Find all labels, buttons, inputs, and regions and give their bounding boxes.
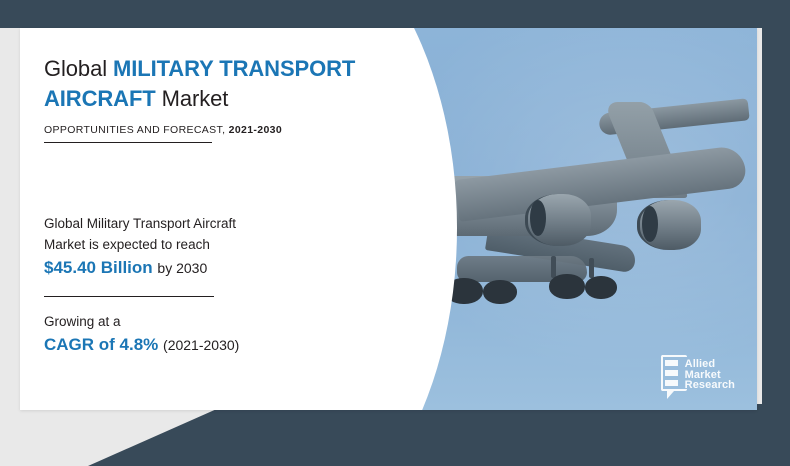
engine-inlet-icon [642,206,658,242]
bubble-bar [665,370,678,376]
title-highlight-2: AIRCRAFT [44,86,156,111]
title-highlight-1: MILITARY TRANSPORT [113,56,355,81]
stats-block: Global Military Transport Aircraft Marke… [44,213,420,358]
market-size-value: $45.40 Billion [44,258,153,277]
engine-inlet-icon [530,200,546,236]
cagr-period: (2021-2030) [163,337,239,353]
bubble-bar [665,380,678,386]
bubble-bar [665,360,678,366]
subtitle-years: 2021-2030 [229,124,282,136]
bubble-tail [667,391,674,399]
cagr-value-row: CAGR of 4.8% (2021-2030) [44,332,420,358]
subtitle-text: OPPORTUNITIES AND FORECAST, [44,124,225,136]
engine-inboard-right [525,194,591,246]
cagr-line-1: Growing at a [44,311,420,332]
logo-line-1: Allied [685,359,735,370]
logo-wordmark: Allied Market Research [685,358,735,391]
allied-market-research-logo: Allied Market Research [665,358,735,392]
market-size-year: by 2030 [157,260,207,276]
title-suffix: Market [162,86,229,111]
stat-line-2: Market is expected to reach [44,234,420,255]
logo-line-3: Research [685,380,735,391]
stat-market-size: Global Military Transport Aircraft Marke… [44,213,420,281]
cagr-value: CAGR of 4.8% [44,335,158,354]
main-landing-gear [549,274,585,299]
gear-strut [589,258,594,278]
title-prefix: Global [44,56,107,81]
page-title: Global MILITARY TRANSPORT AIRCRAFT Marke… [44,54,420,114]
banner-card: Allied Market Research Global MILITARY T… [20,28,757,410]
stats-divider [44,296,214,297]
text-column: Global MILITARY TRANSPORT AIRCRAFT Marke… [20,28,420,410]
speech-bubble-icon [665,358,681,392]
stat-line-1: Global Military Transport Aircraft [44,213,420,234]
banner-stage: Allied Market Research Global MILITARY T… [0,0,790,466]
engine-outboard-right [637,200,701,250]
subtitle-divider [44,142,212,143]
stat-cagr: Growing at a CAGR of 4.8% (2021-2030) [44,311,420,358]
stat-value-row: $45.40 Billion by 2030 [44,255,420,281]
main-landing-gear [483,280,517,304]
gear-strut [551,256,556,278]
main-landing-gear [585,276,617,299]
subtitle: OPPORTUNITIES AND FORECAST, 2021-2030 [44,124,420,136]
